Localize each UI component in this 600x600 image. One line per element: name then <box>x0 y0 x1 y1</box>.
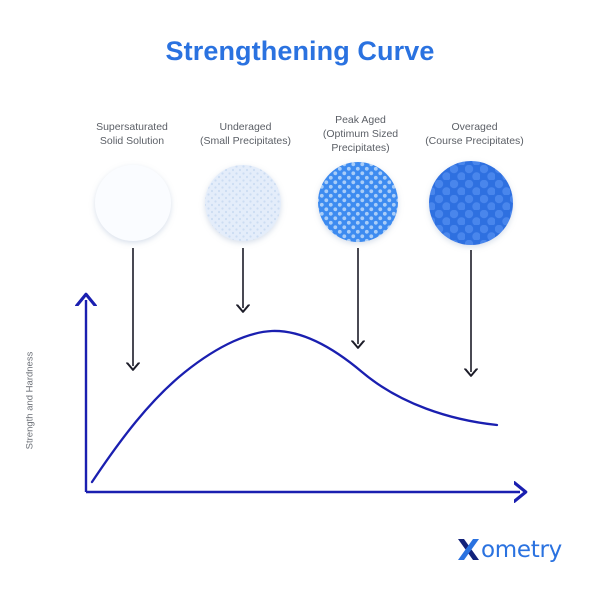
xometry-logo[interactable]: ometry <box>455 534 565 566</box>
strengthening-curve-line <box>92 331 497 482</box>
xometry-x-mark-icon <box>455 536 483 564</box>
strengthening-curve-infographic: Strengthening Curve Supersaturated Solid… <box>0 0 600 600</box>
xometry-wordmark: ometry <box>481 537 562 563</box>
microstructure-overaged <box>429 159 513 246</box>
microstructure-underaged <box>205 163 281 242</box>
microstructure-supersaturated-solid-solution <box>95 163 171 242</box>
diagram-canvas <box>0 0 600 600</box>
microstructure-peak-aged <box>318 160 398 243</box>
